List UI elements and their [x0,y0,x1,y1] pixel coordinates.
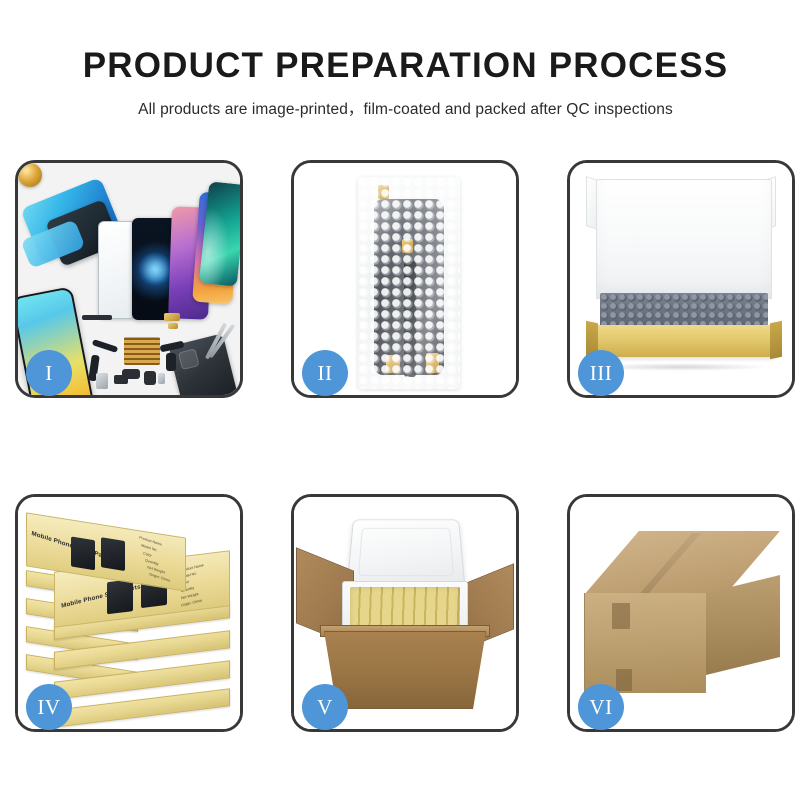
process-step-6[interactable]: VI [567,494,795,732]
small-part-icon [164,313,180,321]
process-step-grid: I II [15,160,796,732]
carton-tape-icon [616,669,632,691]
glass-protector-icon [98,221,136,319]
copper-grid-chip-icon [124,337,160,365]
grey-bubble-foam-icon [600,293,768,329]
sim-tray-icon [96,373,108,389]
small-part-icon [158,373,165,384]
gold-box-tray-icon [592,325,776,357]
page-title: PRODUCT PREPARATION PROCESS [0,48,811,85]
process-step-5[interactable]: V [291,494,519,732]
carton-front-face-icon [584,593,706,693]
step-badge-4: IV [26,684,72,730]
step-badge-5: V [302,684,348,730]
step-badge-6: VI [578,684,624,730]
plastic-sheen [358,177,460,389]
flex-cable-icon [92,339,119,353]
process-step-4[interactable]: Mobile Phone Spare Parts Product Name Mo… [15,494,243,732]
white-box-lid-icon [596,179,772,299]
step-badge-1: I [26,350,72,396]
flex-cable-icon [166,353,176,371]
camera-module-icon [144,371,156,385]
product-preparation-infographic: PRODUCT PREPARATION PROCESS All products… [0,0,811,811]
page-subtitle: All products are image-printed，film-coat… [0,97,811,119]
process-step-3[interactable]: III [567,160,795,398]
process-step-2[interactable]: II [291,160,519,398]
process-step-1[interactable]: I [15,160,243,398]
small-part-icon [168,323,178,329]
step-badge-2: II [302,350,348,396]
small-part-icon [114,375,128,384]
bubble-wrap-bag-icon [358,177,460,389]
foam-lid-icon [347,519,466,586]
carton-tape-icon [612,603,630,629]
carton-body-icon [324,631,486,709]
header: PRODUCT PREPARATION PROCESS All products… [0,0,811,119]
gold-coil-icon [18,163,42,187]
small-part-icon [82,315,112,320]
step-badge-3: III [578,350,624,396]
